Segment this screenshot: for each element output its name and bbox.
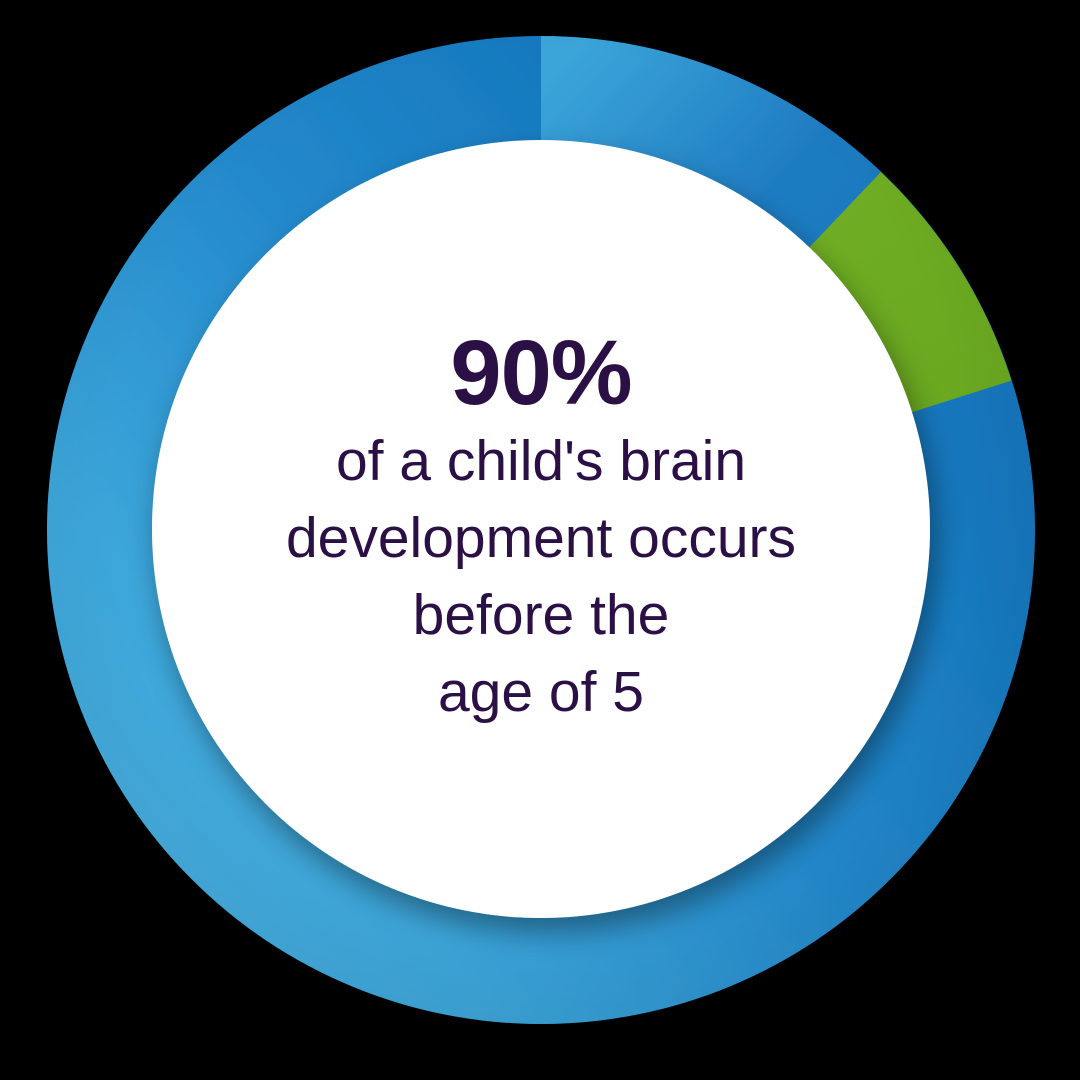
donut-chart [0, 0, 1080, 1080]
infographic-canvas: 90% of a child's brain development occur… [0, 0, 1080, 1080]
donut-hole [152, 140, 930, 918]
